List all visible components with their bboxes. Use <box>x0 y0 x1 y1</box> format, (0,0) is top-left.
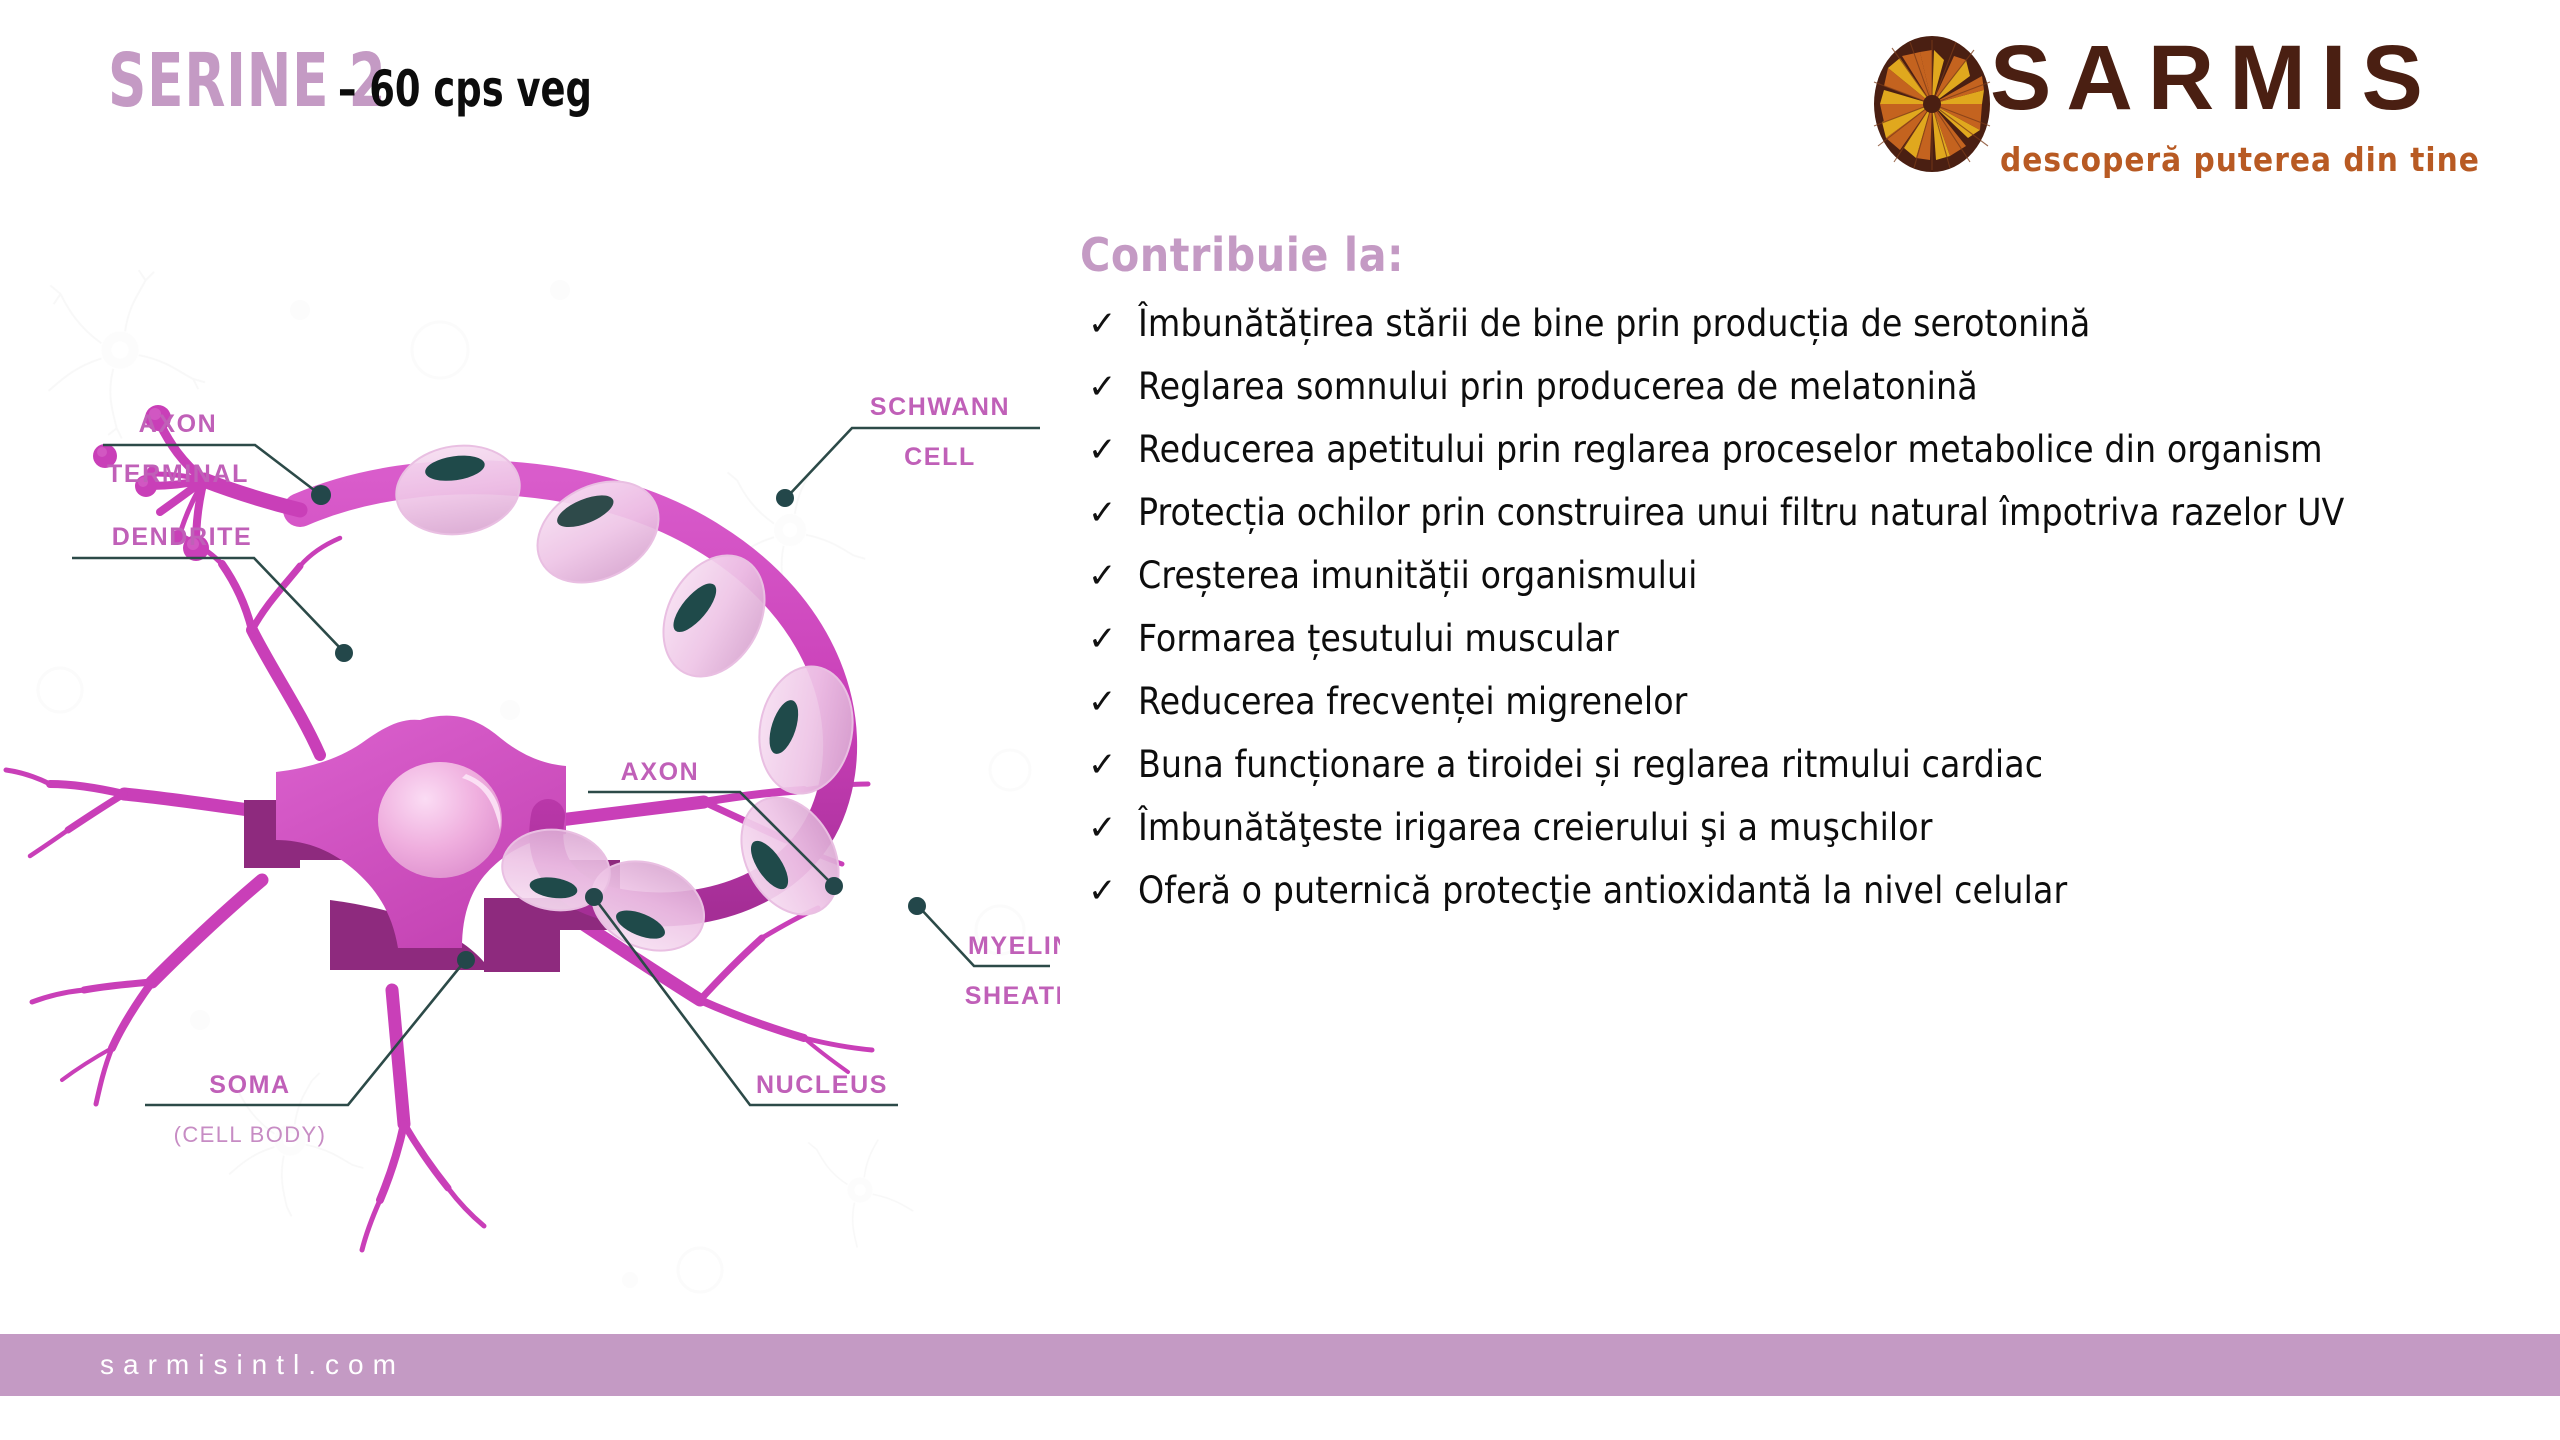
list-item-label: Buna funcționare a tiroidei și reglarea … <box>1138 743 2043 787</box>
check-icon: ✓ <box>1080 491 1138 535</box>
label-axon-terminal-line2: TERMINAL <box>107 460 249 488</box>
label-soma: SOMA (CELL BODY) <box>145 951 475 1147</box>
neuron-anatomy-diagram: AXON TERMINAL DENDRITE SOMA (CELL BODY) … <box>0 200 1060 1300</box>
list-item-label: Îmbunătățirea stării de bine prin produc… <box>1138 302 2090 346</box>
label-dendrite: DENDRITE <box>72 523 353 662</box>
label-axon-line1: AXON <box>621 758 700 786</box>
list-item: ✓ Protecția ochilor prin construirea unu… <box>1080 491 2520 535</box>
label-soma-line1: SOMA <box>209 1071 290 1099</box>
check-icon: ✓ <box>1080 302 1138 346</box>
website-url[interactable]: sarmisintl.com <box>100 1334 405 1396</box>
list-item: ✓ Oferă o puternică protecţie antioxidan… <box>1080 869 2520 913</box>
list-item: ✓ Îmbunătățirea stării de bine prin prod… <box>1080 302 2520 346</box>
check-icon: ✓ <box>1080 428 1138 472</box>
list-item: ✓ Formarea țesutului muscular <box>1080 617 2520 661</box>
list-item: ✓ Reglarea somnului prin producerea de m… <box>1080 365 2520 409</box>
check-icon: ✓ <box>1080 554 1138 598</box>
list-item: ✓ Îmbunătăţeste irigarea creierului şi a… <box>1080 806 2520 850</box>
sunburst-emblem-icon <box>1870 34 1994 174</box>
list-item: ✓ Creșterea imunității organismului <box>1080 554 2520 598</box>
label-schwann-cell-line1: SCHWANN <box>870 393 1010 421</box>
list-item-label: Protecția ochilor prin construirea unui … <box>1138 491 2344 535</box>
label-schwann-cell-line2: CELL <box>904 443 976 471</box>
list-item-label: Creșterea imunității organismului <box>1138 554 1698 598</box>
brand-logo[interactable]: SARMIS descoperă puterea din tine <box>1862 32 2522 182</box>
label-myelin-sheath-line2: SHEATH <box>965 982 1060 1010</box>
check-icon: ✓ <box>1080 806 1138 850</box>
check-icon: ✓ <box>1080 365 1138 409</box>
header-bar: SERINE 2 – 60 cps veg <box>0 0 2560 200</box>
check-icon: ✓ <box>1080 869 1138 913</box>
list-item: ✓ Buna funcționare a tiroidei și reglare… <box>1080 743 2520 787</box>
label-nucleus-line1: NUCLEUS <box>756 1071 888 1099</box>
label-schwann-cell: SCHWANN CELL <box>776 393 1040 507</box>
label-axon-terminal-line1: AXON <box>139 410 218 438</box>
check-icon: ✓ <box>1080 680 1138 724</box>
benefits-panel: Contribuie la: ✓ Îmbunătățirea stării de… <box>1080 232 2520 932</box>
footer-bar: sarmisintl.com <box>0 1334 2560 1396</box>
logo-tagline: descoperă puterea din tine <box>2000 140 2480 179</box>
check-icon: ✓ <box>1080 743 1138 787</box>
check-icon: ✓ <box>1080 617 1138 661</box>
benefits-heading: Contribuie la: <box>1080 232 2520 278</box>
list-item-label: Reglarea somnului prin producerea de mel… <box>1138 365 1978 409</box>
list-item-label: Îmbunătăţeste irigarea creierului şi a m… <box>1138 806 1933 850</box>
list-item-label: Formarea țesutului muscular <box>1138 617 1619 661</box>
nucleus-shape <box>378 762 502 878</box>
list-item-label: Oferă o puternică protecţie antioxidantă… <box>1138 869 2067 913</box>
list-item-label: Reducerea apetitului prin reglarea proce… <box>1138 428 2323 472</box>
logo-wordmark: SARMIS <box>1990 26 2438 132</box>
label-dendrite-line1: DENDRITE <box>112 523 253 551</box>
list-item: ✓ Reducerea frecvenței migrenelor <box>1080 680 2520 724</box>
list-item-label: Reducerea frecvenței migrenelor <box>1138 680 1687 724</box>
label-soma-line2: (CELL BODY) <box>174 1122 327 1147</box>
list-item: ✓ Reducerea apetitului prin reglarea pro… <box>1080 428 2520 472</box>
label-myelin-sheath-line1: MYELIN <box>968 932 1060 960</box>
product-subtitle: – 60 cps veg <box>338 64 592 114</box>
page-title: SERINE 2 – 60 cps veg <box>108 44 648 118</box>
